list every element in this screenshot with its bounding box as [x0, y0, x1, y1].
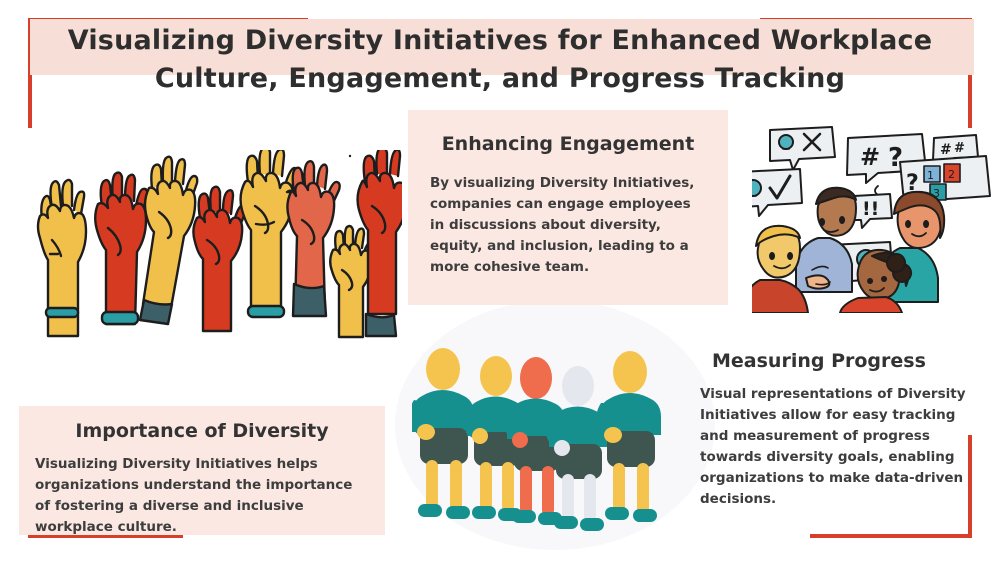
- raised-hands-illustration: [32, 150, 402, 340]
- svg-text:1: 1: [927, 169, 934, 182]
- hand-2: [95, 173, 147, 324]
- svg-text:#: #: [860, 143, 880, 171]
- team-figure-1: [412, 348, 474, 519]
- card-body-importance: Visualizing Diversity Initiatives helps …: [35, 454, 363, 538]
- hand-3: [140, 157, 197, 324]
- hand-6: [287, 161, 340, 316]
- hand-1: [38, 180, 86, 336]
- team-figure-5: [596, 351, 661, 522]
- bubble-lightbulb-check-icon: [752, 169, 802, 216]
- card-title-engagement: Enhancing Engagement: [408, 133, 728, 155]
- svg-text:2: 2: [948, 168, 955, 181]
- hand-5: [241, 150, 299, 317]
- card-title-measuring: Measuring Progress: [712, 350, 975, 372]
- bubble-exclamation-icon: !!: [854, 194, 892, 228]
- bracket-line-horizontal: [810, 534, 972, 538]
- card-body-engagement: By visualizing Diversity Initiatives, co…: [430, 173, 704, 278]
- hand-4: [193, 187, 245, 331]
- svg-text:!!: !!: [862, 198, 879, 220]
- people-discussion-illustration: # ? # # ? 1 2: [752, 118, 992, 313]
- card-enhancing-engagement: Enhancing Engagement By visualizing Dive…: [408, 110, 728, 305]
- card-body-measuring: Visual representations of Diversity Init…: [700, 384, 975, 510]
- page-title: Visualizing Diversity Initiatives for En…: [40, 22, 960, 98]
- svg-text:#: #: [940, 142, 952, 158]
- card-title-importance: Importance of Diversity: [19, 420, 385, 442]
- card-importance-of-diversity: Importance of Diversity Visualizing Dive…: [19, 406, 385, 535]
- team-group-illustration: [412, 340, 674, 540]
- bubble-lightbulb-x-icon: [770, 127, 835, 170]
- block-measuring-progress: Measuring Progress Visual representation…: [700, 350, 975, 510]
- infographic-canvas: Visualizing Diversity Initiatives for En…: [0, 0, 1000, 563]
- svg-text:#: #: [954, 141, 965, 156]
- person-blue-shirt: [796, 188, 856, 292]
- team-figure-4: [545, 366, 607, 531]
